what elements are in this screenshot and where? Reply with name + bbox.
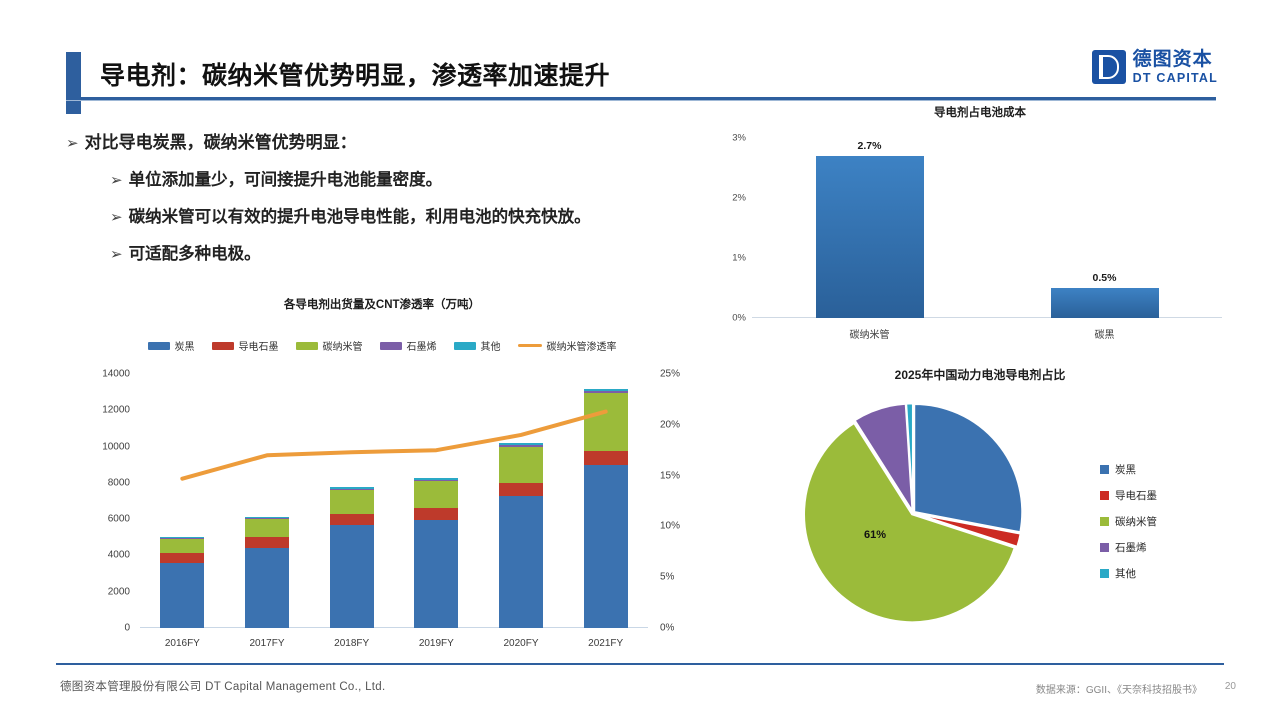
chart-title: 导电剂占电池成本	[700, 104, 1260, 120]
legend-item-碳纳米管渗透率: 碳纳米管渗透率	[518, 338, 617, 353]
bar-碳纳米管	[816, 156, 924, 318]
chart-shipments-and-cnt-penetration: 各导电剂出货量及CNT渗透率（万吨） 炭黑导电石墨碳纳米管石墨烯其他碳纳米管渗透…	[52, 296, 712, 644]
legend-swatch	[1100, 491, 1109, 500]
legend-item-石墨烯: 石墨烯	[380, 338, 437, 353]
bullet-level2: ➢可适配多种电极。	[110, 240, 706, 264]
footer-source: 数据来源：GGII、《天奈科技招股书》	[1036, 681, 1202, 696]
legend-label: 炭黑	[1115, 462, 1136, 477]
logo-name-en: DT CAPITAL	[1133, 72, 1218, 85]
x-axis-tick: 2021FY	[561, 638, 651, 649]
pie-svg	[798, 398, 1028, 628]
bullet-level2: ➢碳纳米管可以有效的提升电池导电性能，利用电池的快充快放。	[110, 203, 706, 227]
y2-axis-tick: 15%	[660, 470, 718, 481]
bullet-arrow-icon: ➢	[110, 171, 123, 189]
page-title: 导电剂：碳纳米管优势明显，渗透率加速提升	[100, 56, 610, 92]
y-axis-tick: 6000	[72, 514, 130, 525]
y-axis-tick: 2000	[72, 586, 130, 597]
title-accent-bar	[66, 52, 81, 114]
bar-value-label: 2.7%	[816, 140, 924, 152]
footer-page-number: 20	[1225, 681, 1236, 692]
logo-name-cn: 德图资本	[1133, 50, 1218, 69]
legend-item-其他: 其他	[454, 338, 501, 353]
bullet-level1-text: 对比导电炭黑，碳纳米管优势明显：	[85, 133, 357, 152]
bullet-level2-text: 可适配多种电极。	[129, 245, 261, 263]
legend-swatch	[1100, 543, 1109, 552]
logo-mark-icon	[1092, 50, 1126, 84]
y2-axis-tick: 0%	[660, 623, 718, 634]
y-axis-tick: 4000	[72, 550, 130, 561]
y-axis-tick: 0%	[704, 313, 746, 324]
y-axis-tick: 8000	[72, 477, 130, 488]
y-axis-tick: 12000	[72, 405, 130, 416]
legend-swatch	[1100, 465, 1109, 474]
bullet-arrow-icon: ➢	[110, 208, 123, 226]
bullet-level1: ➢对比导电炭黑，碳纳米管优势明显：	[66, 128, 706, 153]
legend-swatch	[1100, 569, 1109, 578]
bullet-arrow-icon: ➢	[66, 134, 79, 152]
chart-conductive-agent-cost-share: 导电剂占电池成本 0%1%2%3%2.7%碳纳米管0.5%碳黑	[700, 104, 1260, 354]
legend-label: 导电石墨	[239, 338, 279, 353]
y2-axis-tick: 5%	[660, 572, 718, 583]
legend-label: 石墨烯	[1115, 540, 1147, 555]
pie-legend-item-碳纳米管: 碳纳米管	[1100, 514, 1157, 529]
x-axis-tick: 2020FY	[476, 638, 566, 649]
bullet-level2-text: 碳纳米管可以有效的提升电池导电性能，利用电池的快充快放。	[129, 208, 591, 226]
x-axis-tick: 2019FY	[391, 638, 481, 649]
chart-title: 各导电剂出货量及CNT渗透率（万吨）	[52, 296, 712, 312]
legend-swatch	[380, 342, 402, 350]
pie-legend-item-炭黑: 炭黑	[1100, 462, 1157, 477]
legend-swatch	[148, 342, 170, 350]
chart-plot-area: 020004000600080001000012000140000%5%10%1…	[140, 374, 648, 628]
chart-legend: 炭黑导电石墨碳纳米管石墨烯其他碳纳米管渗透率	[52, 338, 712, 353]
bullet-list: ➢对比导电炭黑，碳纳米管优势明显： ➢单位添加量少，可间接提升电池能量密度。 ➢…	[66, 128, 706, 277]
legend-swatch	[212, 342, 234, 350]
x-axis-tick: 2016FY	[137, 638, 227, 649]
y-axis-tick: 1%	[704, 253, 746, 264]
chart-2025-conductive-agent-share: 2025年中国动力电池导电剂占比 61% 炭黑导电石墨碳纳米管石墨烯其他	[780, 366, 1230, 636]
footer-company: 德图资本管理股份有限公司 DT Capital Management Co., …	[60, 678, 386, 694]
y2-axis-tick: 10%	[660, 521, 718, 532]
x-axis-tick: 碳纳米管	[795, 326, 945, 341]
bar-碳黑	[1051, 288, 1159, 318]
x-axis-tick: 2017FY	[222, 638, 312, 649]
bar-value-label: 0.5%	[1051, 272, 1159, 284]
legend-label: 碳纳米管	[323, 338, 363, 353]
bullet-arrow-icon: ➢	[110, 245, 123, 263]
legend-swatch	[1100, 517, 1109, 526]
legend-swatch	[296, 342, 318, 350]
pie-data-label: 61%	[864, 529, 886, 541]
legend-item-炭黑: 炭黑	[148, 338, 195, 353]
y-axis-tick: 0	[72, 623, 130, 634]
footer-divider	[56, 663, 1224, 665]
pie-graphic	[798, 398, 1028, 628]
legend-label: 石墨烯	[407, 338, 437, 353]
bullet-level2-text: 单位添加量少，可间接提升电池能量密度。	[129, 171, 443, 189]
slide: 导电剂：碳纳米管优势明显，渗透率加速提升 德图资本 DT CAPITAL ➢对比…	[0, 0, 1280, 720]
chart-plot-area: 0%1%2%3%2.7%碳纳米管0.5%碳黑	[752, 138, 1222, 318]
legend-swatch-line	[518, 344, 542, 347]
bullet-level2: ➢单位添加量少，可间接提升电池能量密度。	[110, 166, 706, 190]
brand-logo: 德图资本 DT CAPITAL	[1092, 50, 1218, 85]
pie-legend-item-石墨烯: 石墨烯	[1100, 540, 1157, 555]
y-axis-tick: 2%	[704, 193, 746, 204]
y2-axis-tick: 20%	[660, 419, 718, 430]
title-underline-light	[66, 100, 1216, 101]
x-axis-tick: 2018FY	[307, 638, 397, 649]
pie-legend-item-导电石墨: 导电石墨	[1100, 488, 1157, 503]
y-axis-tick: 10000	[72, 441, 130, 452]
chart-title: 2025年中国动力电池导电剂占比	[780, 366, 1180, 383]
penetration-line-series	[140, 374, 648, 628]
x-axis-tick: 碳黑	[1030, 326, 1180, 341]
y2-axis-tick: 25%	[660, 369, 718, 380]
legend-label: 其他	[1115, 566, 1136, 581]
legend-label: 导电石墨	[1115, 488, 1157, 503]
legend-label: 炭黑	[175, 338, 195, 353]
pie-slice-炭黑	[914, 404, 1022, 532]
legend-label: 碳纳米管渗透率	[547, 338, 617, 353]
legend-item-导电石墨: 导电石墨	[212, 338, 279, 353]
legend-label: 碳纳米管	[1115, 514, 1157, 529]
legend-swatch	[454, 342, 476, 350]
pie-legend-item-其他: 其他	[1100, 566, 1157, 581]
y-axis-tick: 14000	[72, 369, 130, 380]
pie-legend: 炭黑导电石墨碳纳米管石墨烯其他	[1100, 462, 1157, 581]
legend-label: 其他	[481, 338, 501, 353]
legend-item-碳纳米管: 碳纳米管	[296, 338, 363, 353]
y-axis-tick: 3%	[704, 133, 746, 144]
